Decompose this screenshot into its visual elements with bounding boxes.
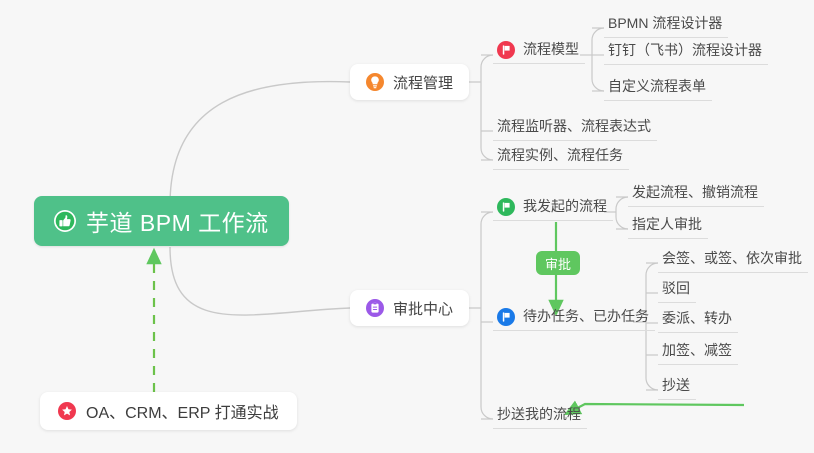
spine-process-management <box>481 55 493 160</box>
node-label: 会签、或签、依次审批 <box>662 248 802 268</box>
node-start-cancel-process[interactable]: 发起流程、撤销流程 <box>628 177 764 207</box>
mindmap-canvas: 芋道 BPM 工作流 流程管理 流程模型 BPMN 流程设计器 钉钉（飞书）流程… <box>0 0 814 453</box>
node-countersign-orsign-sequential[interactable]: 会签、或签、依次审批 <box>658 243 808 273</box>
node-process-instance-task[interactable]: 流程实例、流程任务 <box>493 140 629 170</box>
node-bpmn-designer[interactable]: BPMN 流程设计器 <box>604 8 728 38</box>
node-label: 流程监听器、流程表达式 <box>497 116 651 136</box>
node-label: BPMN 流程设计器 <box>608 13 722 33</box>
node-todo-done-tasks[interactable]: 待办任务、已办任务 <box>493 301 655 331</box>
node-label: 加签、减签 <box>662 340 732 360</box>
spine-approval-center <box>481 212 493 419</box>
node-custom-process-form[interactable]: 自定义流程表单 <box>604 71 712 101</box>
node-label: 流程模型 <box>523 39 579 59</box>
thumbs-up-icon <box>54 210 76 232</box>
node-label: 自定义流程表单 <box>608 76 706 96</box>
clipboard-icon <box>366 299 384 317</box>
node-cc[interactable]: 抄送 <box>658 370 696 400</box>
link-root-to-approval-center <box>170 247 350 315</box>
node-label: 委派、转办 <box>662 308 732 328</box>
node-label: 发起流程、撤销流程 <box>632 182 758 202</box>
node-dingtalk-feishu-designer[interactable]: 钉钉（飞书）流程设计器 <box>604 35 768 65</box>
node-label: 抄送我的流程 <box>497 404 581 424</box>
node-cc-to-me-process[interactable]: 抄送我的流程 <box>493 399 587 429</box>
card-integration-practice[interactable]: OA、CRM、ERP 打通实战 <box>40 392 297 430</box>
flag-circle-icon <box>497 198 515 216</box>
lightbulb-icon <box>366 73 384 91</box>
node-label: 钉钉（飞书）流程设计器 <box>608 40 762 60</box>
node-designated-approver[interactable]: 指定人审批 <box>628 209 708 239</box>
branch-process-management[interactable]: 流程管理 <box>350 64 469 100</box>
flag-circle-icon <box>497 308 515 326</box>
node-add-reduce-sign[interactable]: 加签、减签 <box>658 335 738 365</box>
flag-circle-icon <box>497 41 515 59</box>
node-reject[interactable]: 驳回 <box>658 273 696 303</box>
root-node[interactable]: 芋道 BPM 工作流 <box>34 196 289 246</box>
node-label: 我发起的流程 <box>523 196 607 216</box>
card-label: OA、CRM、ERP 打通实战 <box>86 399 279 423</box>
node-delegate-transfer[interactable]: 委派、转办 <box>658 303 738 333</box>
node-label: 待办任务、已办任务 <box>523 306 649 326</box>
node-label: 驳回 <box>662 278 690 298</box>
root-label: 芋道 BPM 工作流 <box>86 204 269 238</box>
edge-label-approval[interactable]: 审批 <box>536 251 580 275</box>
branch-label: 审批中心 <box>393 298 453 319</box>
node-process-listener-expression[interactable]: 流程监听器、流程表达式 <box>493 111 657 141</box>
node-label: 流程实例、流程任务 <box>497 145 623 165</box>
link-root-to-process-management <box>170 82 350 205</box>
spine-my-initiated-process <box>616 197 628 229</box>
arrow-cc-to-my-process <box>566 404 744 414</box>
node-process-model[interactable]: 流程模型 <box>493 34 585 64</box>
node-label: 抄送 <box>662 375 690 395</box>
spine-process-model <box>592 28 604 91</box>
edge-label-text: 审批 <box>545 254 571 273</box>
star-circle-icon <box>58 402 76 420</box>
node-my-initiated-process[interactable]: 我发起的流程 <box>493 191 613 221</box>
branch-approval-center[interactable]: 审批中心 <box>350 290 469 326</box>
node-label: 指定人审批 <box>632 214 702 234</box>
branch-label: 流程管理 <box>393 72 453 93</box>
